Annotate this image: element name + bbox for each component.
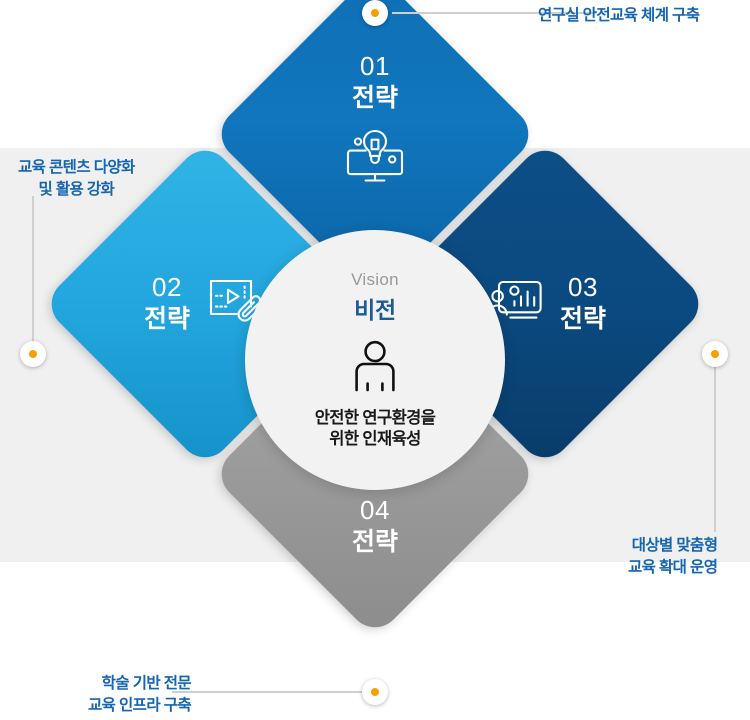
- connector-line-04: [172, 691, 377, 693]
- vision-circle[interactable]: Vision 비전 안전한 연구환경을 위한 인재육성: [245, 230, 505, 490]
- strategy-label-04-line2: 교육 인프라 구축: [88, 695, 191, 717]
- infographic-canvas: 01 전략 02 전략: [0, 0, 750, 720]
- connector-line-02: [32, 196, 34, 356]
- person-icon: [346, 339, 404, 402]
- vision-description-line1: 안전한 연구환경을: [315, 408, 436, 429]
- strategy-label-03: 대상별 맞춤형 교육 확대 운영: [628, 535, 717, 580]
- strategy-label-04: 학술 기반 전문 교육 인프라 구축: [88, 673, 191, 718]
- strategy-label-03-line2: 교육 확대 운영: [628, 557, 717, 579]
- connector-dot-04[interactable]: [362, 679, 388, 705]
- strategy-label-02: 교육 콘텐츠 다양화 및 활용 강화: [18, 157, 135, 202]
- vision-ko-label: 비전: [354, 291, 396, 325]
- strategy-label-04-line1: 학술 기반 전문: [88, 673, 191, 695]
- strategy-label-02-line1: 교육 콘텐츠 다양화: [18, 157, 135, 179]
- strategy-label-01-line1: 연구실 안전교육 체계 구축: [538, 5, 699, 27]
- strategy-label-02-line2: 및 활용 강화: [18, 179, 135, 201]
- strategy-label-01: 연구실 안전교육 체계 구축: [538, 5, 699, 27]
- vision-description: 안전한 연구환경을 위한 인재육성: [315, 408, 436, 450]
- connector-line-03: [714, 354, 716, 532]
- connector-dot-01[interactable]: [362, 0, 388, 26]
- connector-dot-03[interactable]: [702, 341, 728, 367]
- vision-en-label: Vision: [351, 270, 399, 290]
- strategy-label-03-line1: 대상별 맞춤형: [628, 535, 717, 557]
- connector-dot-02[interactable]: [20, 341, 46, 367]
- vision-description-line2: 위한 인재육성: [315, 429, 436, 450]
